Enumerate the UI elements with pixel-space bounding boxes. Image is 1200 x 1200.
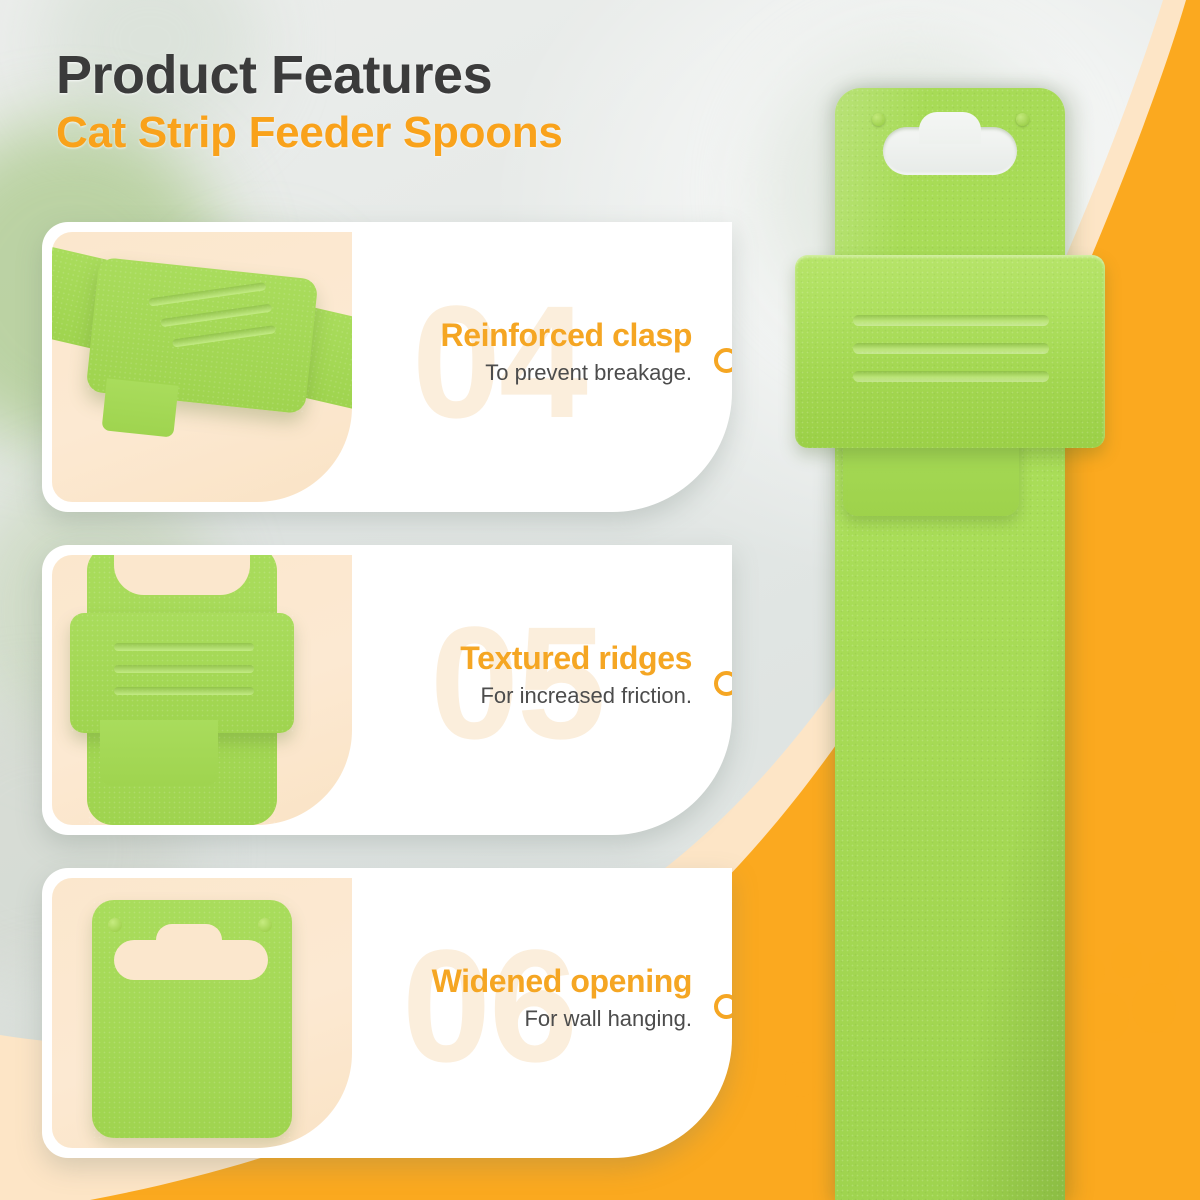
textured-ridge — [853, 343, 1049, 354]
stud-dot — [258, 918, 272, 932]
ring-marker-icon[interactable] — [714, 671, 732, 696]
feature-card[interactable]: 05 Textured ridges For increased frictio… — [42, 545, 732, 835]
hang-hole-notch — [156, 924, 222, 954]
page-title-block: Product Features Cat Strip Feeder Spoons — [56, 46, 563, 158]
ring-marker-icon[interactable] — [714, 994, 732, 1019]
reinforced-clasp — [795, 255, 1105, 448]
feature-card[interactable]: 04 Reinforced clasp To prevent breakage. — [42, 222, 732, 512]
stud-dot — [872, 113, 885, 126]
stud-dot — [108, 918, 122, 932]
page-subtitle: Cat Strip Feeder Spoons — [56, 108, 563, 158]
feature-text-block: Textured ridges For increased friction. — [372, 641, 692, 710]
stud-dot — [1016, 113, 1029, 126]
feature-caption: For wall hanging. — [372, 1006, 692, 1032]
hero-product-image — [795, 88, 1105, 1200]
feature-text-block: Reinforced clasp To prevent breakage. — [372, 318, 692, 387]
feature-heading: Textured ridges — [372, 641, 692, 676]
textured-ridge — [853, 315, 1049, 326]
feature-card[interactable]: 06 Widened opening For wall hanging. — [42, 868, 732, 1158]
feature-photo — [52, 878, 352, 1148]
feature-heading: Reinforced clasp — [372, 318, 692, 353]
textured-ridge — [853, 371, 1049, 382]
ring-marker-icon[interactable] — [714, 348, 732, 373]
feature-heading: Widened opening — [372, 964, 692, 999]
page-title: Product Features — [56, 46, 563, 104]
feature-photo — [52, 232, 352, 502]
feature-caption: For increased friction. — [372, 683, 692, 709]
feature-caption: To prevent breakage. — [372, 360, 692, 386]
infographic-canvas: Product Features Cat Strip Feeder Spoons… — [0, 0, 1200, 1200]
feature-text-block: Widened opening For wall hanging. — [372, 964, 692, 1033]
feature-photo — [52, 555, 352, 825]
hang-hole-opening — [883, 127, 1017, 175]
